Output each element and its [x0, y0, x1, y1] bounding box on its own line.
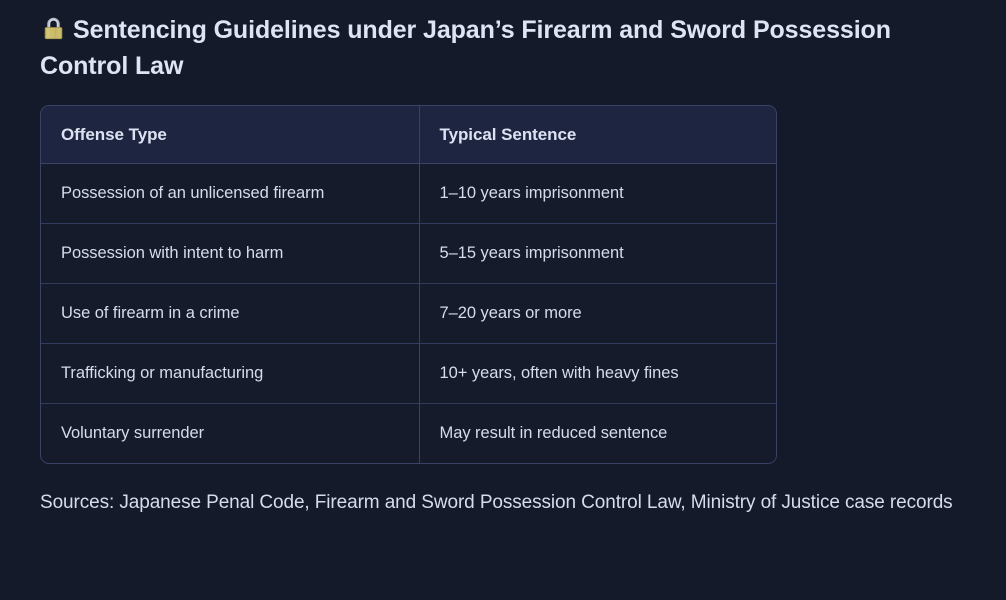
column-header-typical-sentence: Typical Sentence — [419, 106, 776, 164]
cell-typical-sentence: 10+ years, often with heavy fines — [419, 344, 776, 404]
sentencing-table-container: Offense Type Typical Sentence Possession… — [40, 105, 777, 464]
table-row: Use of firearm in a crime 7–20 years or … — [41, 284, 776, 344]
sources-note: Sources: Japanese Penal Code, Firearm an… — [40, 489, 966, 518]
cell-typical-sentence: 5–15 years imprisonment — [419, 224, 776, 284]
cell-typical-sentence: 7–20 years or more — [419, 284, 776, 344]
table-header: Offense Type Typical Sentence — [41, 106, 776, 164]
table-row: Trafficking or manufacturing 10+ years, … — [41, 344, 776, 404]
page-title: Sentencing Guidelines under Japan’s Fire… — [40, 0, 966, 84]
table-row: Voluntary surrender May result in reduce… — [41, 404, 776, 464]
page-title-text: Sentencing Guidelines under Japan’s Fire… — [40, 16, 891, 80]
cell-offense-type: Use of firearm in a crime — [41, 284, 419, 344]
cell-typical-sentence: May result in reduced sentence — [419, 404, 776, 464]
cell-offense-type: Trafficking or manufacturing — [41, 344, 419, 404]
table-row: Possession of an unlicensed firearm 1–10… — [41, 164, 776, 224]
cell-offense-type: Possession of an unlicensed firearm — [41, 164, 419, 224]
lock-icon — [40, 15, 67, 42]
table-header-row: Offense Type Typical Sentence — [41, 106, 776, 164]
cell-offense-type: Possession with intent to harm — [41, 224, 419, 284]
page-root: Sentencing Guidelines under Japan’s Fire… — [0, 0, 1006, 600]
table-row: Possession with intent to harm 5–15 year… — [41, 224, 776, 284]
cell-offense-type: Voluntary surrender — [41, 404, 419, 464]
cell-typical-sentence: 1–10 years imprisonment — [419, 164, 776, 224]
sentencing-table: Offense Type Typical Sentence Possession… — [41, 106, 776, 463]
table-body: Possession of an unlicensed firearm 1–10… — [41, 164, 776, 464]
column-header-offense-type: Offense Type — [41, 106, 419, 164]
